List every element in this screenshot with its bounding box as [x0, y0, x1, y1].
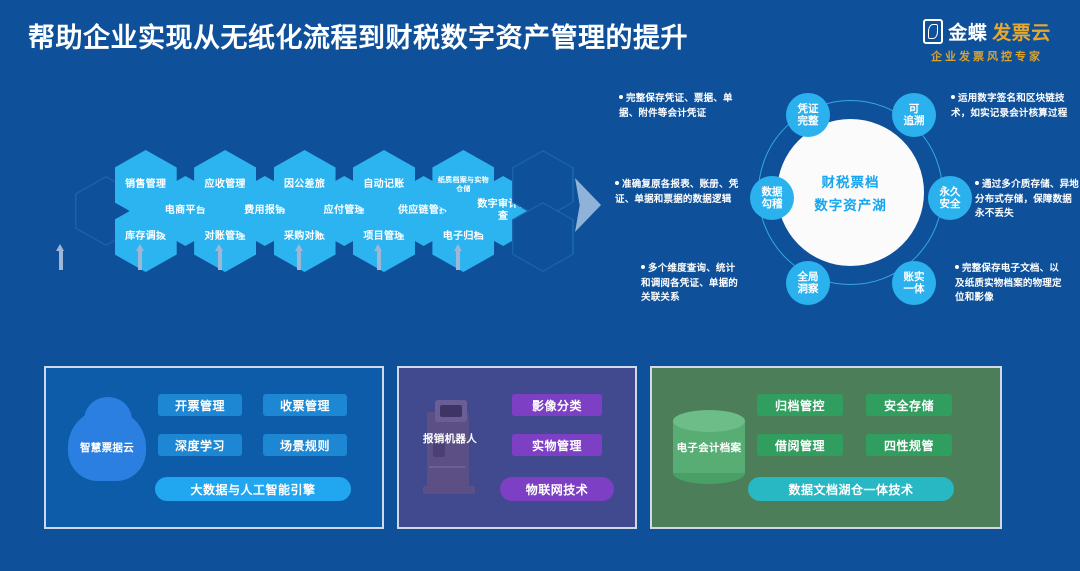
circle-node-label: 数据 — [762, 186, 783, 198]
bullet-icon — [955, 265, 959, 269]
circle-node-0[interactable]: 凭证完整 — [786, 93, 830, 137]
up-arrow-icon — [374, 244, 383, 270]
up-arrow-icon — [295, 244, 304, 270]
brand-tagline: 企业发票风控专家 — [912, 48, 1062, 64]
circle-note-text: 运用数字签名和区块链技术，如实记录会计核算过程 — [951, 93, 1067, 119]
circle-node-label: 追溯 — [904, 115, 925, 127]
circle-note-2: 准确复原各报表、账册、凭证、单据和票据的数据逻辑 — [615, 178, 740, 207]
circle-node-label: 一体 — [904, 283, 925, 295]
circle-node-label: 完整 — [798, 115, 819, 127]
core-line-1: 财税票档 — [822, 171, 880, 191]
chevron-right-icon — [575, 178, 601, 232]
circle-note-5: 完整保存电子文档、以及纸质实物档案的物理定位和影像 — [955, 262, 1067, 306]
circle-note-text: 准确复原各报表、账册、凭证、单据和票据的数据逻辑 — [615, 179, 738, 205]
circle-node-label: 勾稽 — [762, 198, 783, 210]
circle-node-1[interactable]: 可追溯 — [892, 93, 936, 137]
slide-canvas: 帮助企业实现从无纸化流程到财税数字资产管理的提升 金蝶 发票云 企业发票风控专家… — [0, 0, 1080, 571]
circle-node-5[interactable]: 账实一体 — [892, 261, 936, 305]
brand-logo: 金蝶 发票云 企业发票风控专家 — [912, 18, 1062, 64]
chip-changjing-guize[interactable]: 场景规则 — [263, 434, 347, 456]
core-line-2: 数字资产湖 — [814, 194, 887, 214]
chip-yingxiang-fenlei[interactable]: 影像分类 — [512, 394, 602, 416]
circle-note-text: 完整保存凭证、票据、单据、附件等会计凭证 — [619, 93, 733, 119]
up-arrow-icon — [454, 244, 463, 270]
brand-name-secondary: 发票云 — [992, 18, 1051, 45]
circle-node-label: 凭证 — [798, 103, 819, 115]
circle-node-label: 洞察 — [798, 283, 819, 295]
chip-jieyue-guanli[interactable]: 借阅管理 — [757, 434, 843, 456]
circle-note-3: 通过多介质存储、异地分布式存储，保障数据永不丢失 — [975, 178, 1080, 222]
hex-process-flow: 销售管理库存调拨电商平台应收管理对账管理费用报销因公差旅采购对账应付管理自动记账… — [0, 140, 560, 285]
bullet-icon — [641, 265, 645, 269]
circle-note-1: 运用数字签名和区块链技术，如实记录会计核算过程 — [951, 92, 1076, 121]
diagram-core: 财税票档 数字资产湖 — [777, 119, 924, 266]
chip-shiwu-guanli[interactable]: 实物管理 — [512, 434, 602, 456]
circle-node-label: 全局 — [798, 271, 819, 283]
chip-sixing-guiguan[interactable]: 四性规管 — [866, 434, 952, 456]
chip-bigdata-ai-engine[interactable]: 大数据与人工智能引擎 — [155, 477, 351, 501]
circle-note-text: 通过多介质存储、异地分布式存储，保障数据永不丢失 — [975, 179, 1079, 219]
circle-note-4: 多个维度查询、统计和调阅各凭证、单据的关联关系 — [641, 262, 743, 306]
chip-shoupiao-guanli[interactable]: 收票管理 — [263, 394, 347, 416]
up-arrow-icon — [136, 244, 145, 270]
bullet-icon — [975, 181, 979, 185]
up-arrow-icon — [215, 244, 224, 270]
circle-note-text: 完整保存电子文档、以及纸质实物档案的物理定位和影像 — [955, 263, 1062, 303]
circle-node-label: 永久 — [940, 186, 961, 198]
circle-note-0: 完整保存凭证、票据、单据、附件等会计凭证 — [619, 92, 737, 121]
circle-node-3[interactable]: 永久安全 — [928, 176, 972, 220]
panel-title-smart-invoice-cloud: 智慧票据云 — [68, 440, 146, 455]
circle-node-label: 可 — [909, 103, 920, 115]
chip-data-lakehouse-technology[interactable]: 数据文档湖仓一体技术 — [748, 477, 954, 501]
circle-node-label: 安全 — [940, 198, 961, 210]
up-arrow-icon — [56, 244, 65, 270]
robot-kiosk-icon — [421, 398, 479, 496]
chip-iot-technology[interactable]: 物联网技术 — [500, 477, 614, 501]
circle-node-label: 账实 — [904, 271, 925, 283]
circle-node-4[interactable]: 全局洞察 — [786, 261, 830, 305]
bullet-icon — [615, 181, 619, 185]
panel-title-electronic-accounting-archive: 电子会计档案 — [671, 440, 747, 455]
circle-node-2[interactable]: 数据勾稽 — [750, 176, 794, 220]
chip-guidang-guankong[interactable]: 归档管控 — [757, 394, 843, 416]
chip-shendu-xuexi[interactable]: 深度学习 — [158, 434, 242, 456]
bullet-icon — [951, 95, 955, 99]
chip-kaipiao-guanli[interactable]: 开票管理 — [158, 394, 242, 416]
capability-circle-diagram: 财税票档 数字资产湖 凭证完整可追溯数据勾稽永久安全全局洞察账实一体完整保存凭证… — [615, 86, 1080, 356]
bullet-icon — [619, 95, 623, 99]
chip-anquan-cunchu[interactable]: 安全存储 — [866, 394, 952, 416]
circle-note-text: 多个维度查询、统计和调阅各凭证、单据的关联关系 — [641, 263, 738, 303]
brand-name-primary: 金蝶 — [948, 18, 987, 45]
page-title: 帮助企业实现从无纸化流程到财税数字资产管理的提升 — [28, 16, 688, 55]
panel-title-reimbursement-robot: 报销机器人 — [412, 431, 488, 446]
kingdee-leaf-icon — [923, 19, 943, 44]
